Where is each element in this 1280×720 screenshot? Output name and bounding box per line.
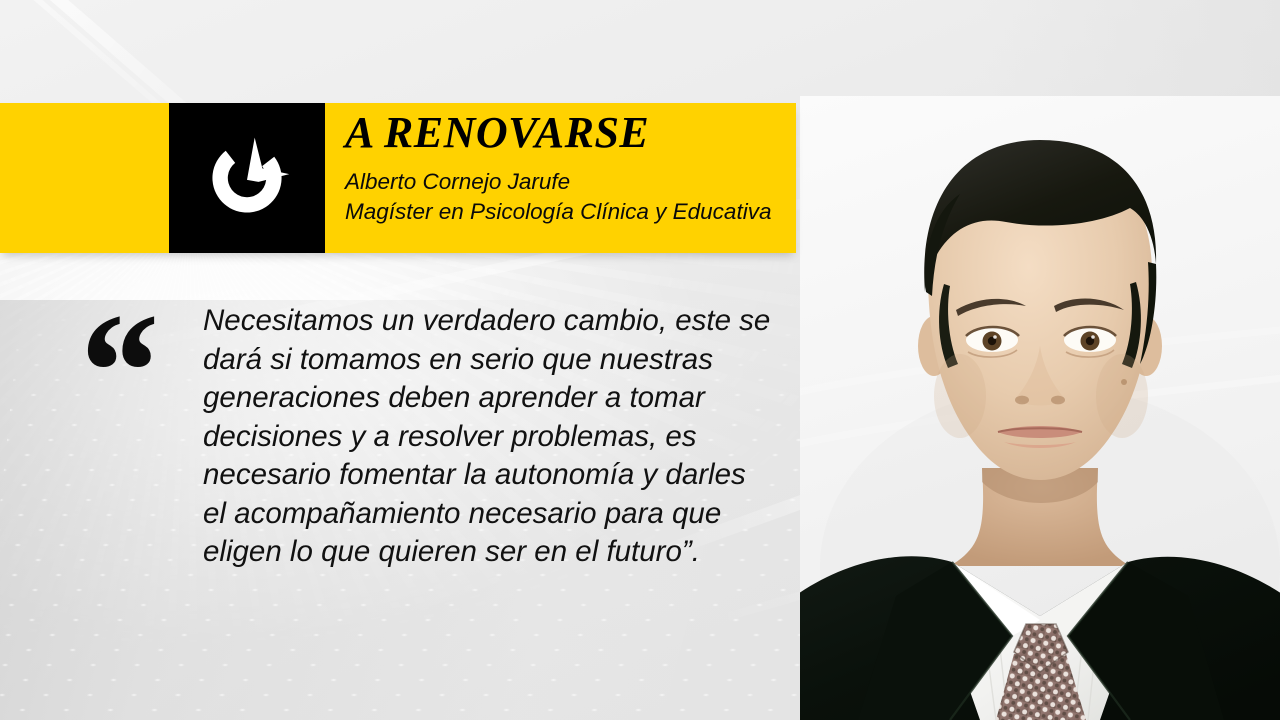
page-title: A RENOVARSE: [345, 111, 795, 156]
quote-line: dará si tomamos en serio que nuestras: [203, 341, 783, 380]
open-quote-icon: “: [72, 288, 156, 456]
circular-arrow-logo-icon: [199, 130, 295, 226]
banner-text-block: A RENOVARSE Alberto Cornejo Jarufe Magís…: [345, 111, 795, 226]
author-credentials: Magíster en Psicología Clínica y Educati…: [345, 197, 795, 227]
quote-line: Necesitamos un verdadero cambio, este se: [203, 302, 783, 341]
quote-line: generaciones deben aprender a tomar: [203, 379, 783, 418]
quote-line: decisiones y a resolver problemas, es: [203, 418, 783, 457]
author-name: Alberto Cornejo Jarufe: [345, 167, 795, 197]
quote-line: eligen lo que quieren ser en el futuro”.: [203, 533, 783, 572]
header-banner: A RENOVARSE Alberto Cornejo Jarufe Magís…: [0, 103, 796, 253]
logo-container: [169, 103, 325, 253]
portrait-photo: [800, 96, 1280, 720]
quote-line: el acompañamiento necesario para que: [203, 495, 783, 534]
quote-line: necesario fomentar la autonomía y darles: [203, 456, 783, 495]
slide-canvas: A RENOVARSE Alberto Cornejo Jarufe Magís…: [0, 0, 1280, 720]
quote-text: Necesitamos un verdadero cambio, este se…: [203, 302, 783, 572]
